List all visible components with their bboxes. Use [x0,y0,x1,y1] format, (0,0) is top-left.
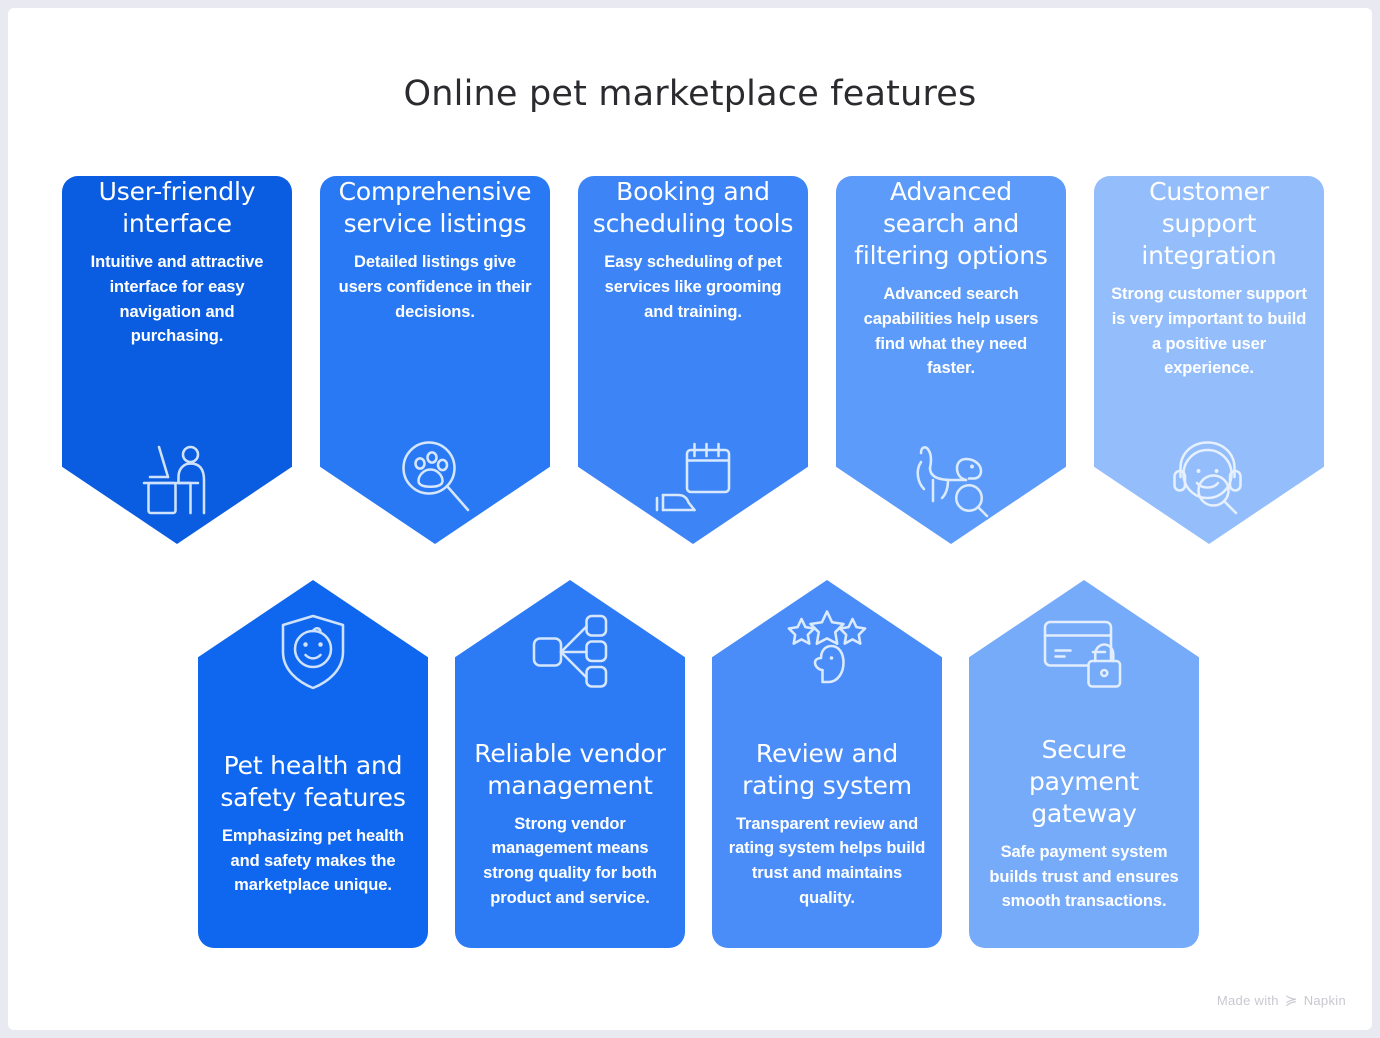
shield-face-icon [265,604,361,700]
card-description: Safe payment system builds trust and ens… [983,840,1185,914]
paw-magnifier-icon [387,426,483,522]
card-description: Strong vendor management means strong qu… [469,812,671,911]
card-title: Customer support integration [1108,176,1310,272]
person-at-desk-icon [129,426,225,522]
card-lock-icon [1036,604,1132,700]
card-title: Advanced search and filtering options [850,176,1052,272]
card-title: Review and rating system [726,738,928,802]
card-title: Comprehensive service listings [334,176,536,240]
card-title: Secure payment gateway [983,734,1185,830]
card-title: Reliable vendor management [469,738,671,802]
card-title: User-friendly interface [76,176,278,240]
card-description: Advanced search capabilities help users … [850,282,1052,381]
card-description: Transparent review and rating system hel… [726,812,928,911]
stars-dog-icon [779,604,875,700]
feature-card-reliable-vendor-management[interactable]: Reliable vendor management Strong vendor… [455,580,685,948]
card-title: Booking and scheduling tools [592,176,794,240]
feature-card-customer-support-integration[interactable]: Customer support integration Strong cust… [1094,176,1324,544]
feature-card-review-and-rating-system[interactable]: Review and rating system Transparent rev… [712,580,942,948]
watermark-brand: Napkin [1304,993,1346,1008]
napkin-watermark: Made with ≽ Napkin [1217,993,1346,1008]
card-description: Strong customer support is very importan… [1108,282,1310,381]
dog-magnifier-icon [903,426,999,522]
feature-card-advanced-search-and-filtering-options[interactable]: Advanced search and filtering options Ad… [836,176,1066,544]
feature-card-pet-health-and-safety-features[interactable]: Pet health and safety features Emphasizi… [198,580,428,948]
card-description: Emphasizing pet health and safety makes … [212,824,414,898]
napkin-logo-icon: ≽ [1285,993,1298,1008]
calendar-hand-icon [645,426,741,522]
headset-magnifier-icon [1161,426,1257,522]
page-title: Online pet marketplace features [8,74,1372,114]
infographic-canvas: Online pet marketplace features User-fri… [8,8,1372,1030]
card-description: Intuitive and attractive interface for e… [76,250,278,349]
feature-card-user-friendly-interface[interactable]: User-friendly interface Intuitive and at… [62,176,292,544]
feature-card-secure-payment-gateway[interactable]: Secure payment gateway Safe payment syst… [969,580,1199,948]
card-description: Detailed listings give users confidence … [334,250,536,324]
feature-card-booking-and-scheduling-tools[interactable]: Booking and scheduling tools Easy schedu… [578,176,808,544]
network-nodes-icon [522,604,618,700]
card-description: Easy scheduling of pet services like gro… [592,250,794,324]
card-title: Pet health and safety features [212,750,414,814]
feature-card-comprehensive-service-listings[interactable]: Comprehensive service listings Detailed … [320,176,550,544]
watermark-prefix: Made with [1217,993,1279,1008]
